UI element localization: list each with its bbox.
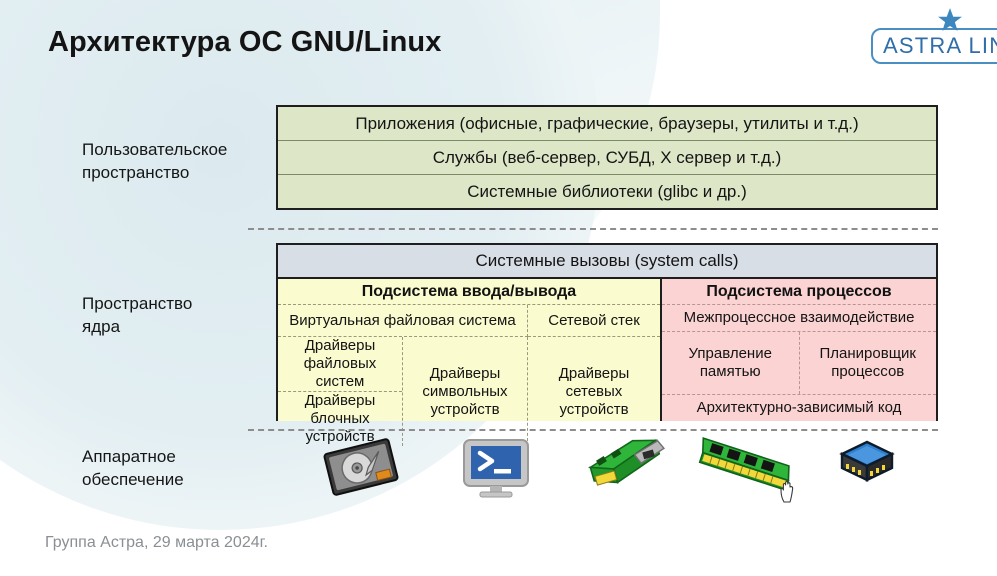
io-network-stack-cell: Сетевой стек (528, 305, 660, 337)
star-icon (937, 7, 963, 33)
process-ipc-cell: Межпроцессное взаимодействие (662, 305, 936, 332)
label-user-space: Пользовательское пространство (82, 138, 227, 185)
label-hardware: Аппаратное обеспечение (82, 445, 184, 492)
astra-linux-logo: ASTRA LIN (871, 28, 997, 64)
label-kernel-space: Пространство ядра (82, 292, 192, 339)
hand-cursor-icon (778, 478, 800, 504)
process-scheduler-cell: Планировщик процессов (800, 332, 937, 394)
astra-linux-logo-text: ASTRA LIN (873, 33, 997, 59)
user-space-row-libraries: Системные библиотеки (glibc и др.) (278, 175, 936, 208)
io-vfs-cell: Виртуальная файловая система (278, 305, 528, 337)
user-space-row-services: Службы (веб-сервер, СУБД, X сервер и т.д… (278, 141, 936, 175)
process-arch-code-cell: Архитектурно-зависимый код (662, 395, 936, 421)
divider-user-kernel (248, 228, 938, 230)
io-fs-drivers-cell: Драйверы файловых систем (278, 337, 402, 392)
user-space-block: Приложения (офисные, графические, браузе… (276, 105, 938, 210)
divider-kernel-hardware (248, 429, 938, 431)
user-space-row-applications: Приложения (офисные, графические, браузе… (278, 107, 936, 141)
system-calls-bar: Системные вызовы (system calls) (278, 245, 936, 279)
cpu-chip-icon (836, 436, 898, 494)
page-title: Архитектура ОС GNU/Linux (48, 26, 441, 59)
monitor-terminal-icon (458, 436, 534, 498)
process-subsystem-heading: Подсистема процессов (662, 279, 936, 305)
io-subsystem-heading: Подсистема ввода/вывода (278, 279, 660, 305)
io-subsystem: Подсистема ввода/вывода Виртуальная файл… (278, 279, 662, 421)
process-subsystem: Подсистема процессов Межпроцессное взаим… (662, 279, 936, 421)
hardware-icon-row (276, 436, 938, 498)
process-memory-management-cell: Управление памятью (662, 332, 800, 394)
network-card-icon (581, 436, 667, 494)
kernel-space-block: Системные вызовы (system calls) Подсисте… (276, 243, 938, 421)
footer-text: Группа Астра, 29 марта 2024г. (45, 534, 268, 552)
hard-disk-icon (316, 436, 406, 498)
